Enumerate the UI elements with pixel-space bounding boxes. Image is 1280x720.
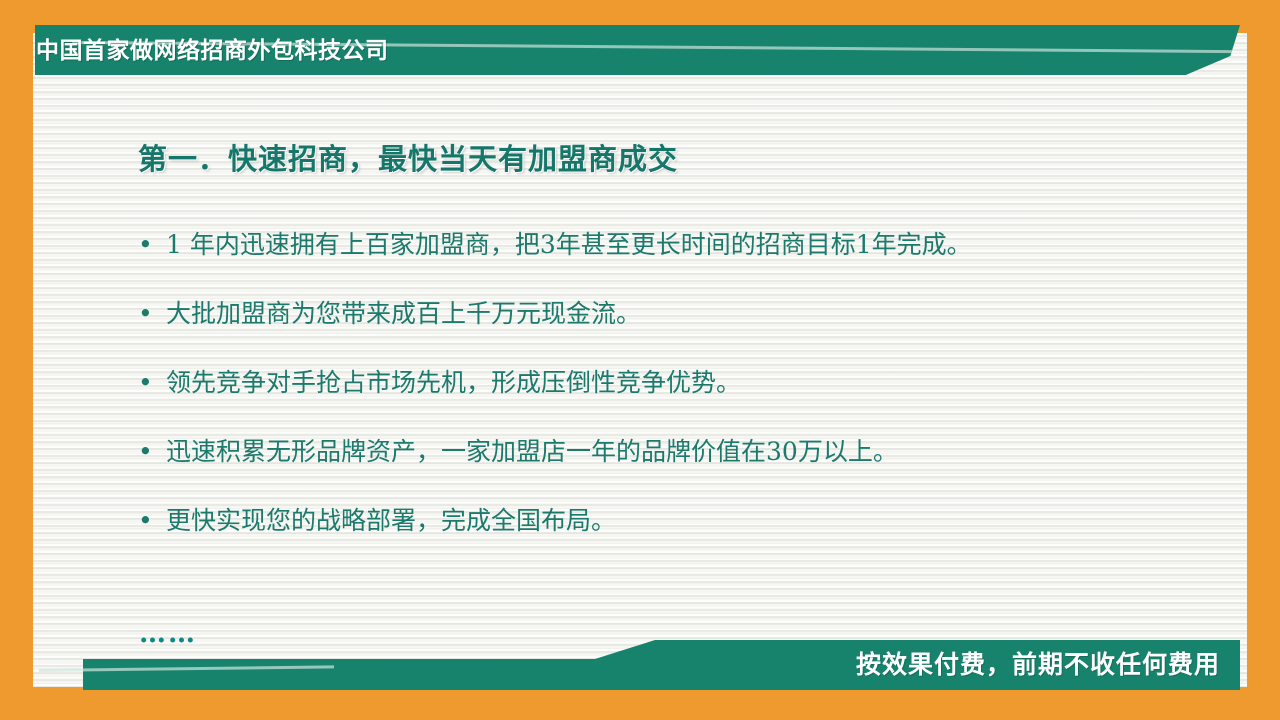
list-item: • 更快实现您的战略部署，完成全国布局。 (138, 504, 1228, 538)
bullet-marker-icon: • (138, 228, 166, 262)
list-item-text: 迅速积累无形品牌资产，一家加盟店一年的品牌价值在30万以上。 (166, 435, 1228, 469)
bullet-marker-icon: • (138, 435, 166, 469)
list-item-text: 更快实现您的战略部署，完成全国布局。 (166, 504, 1228, 538)
slide-canvas: 中国首家做网络招商外包科技公司 第一．快速招商，最快当天有加盟商成交 • 1 年… (0, 0, 1280, 720)
page-title: 中国首家做网络招商外包科技公司 (36, 30, 389, 70)
bullet-marker-icon: • (138, 297, 166, 331)
bullet-marker-icon: • (138, 504, 166, 538)
list-item: • 1 年内迅速拥有上百家加盟商，把3年甚至更长时间的招商目标1年完成。 (138, 228, 1228, 262)
list-item-text: 大批加盟商为您带来成百上千万元现金流。 (166, 297, 1228, 331)
footer-tagline: 按效果付费，前期不收任何费用 (856, 648, 1220, 682)
list-item-text: 1 年内迅速拥有上百家加盟商，把3年甚至更长时间的招商目标1年完成。 (166, 228, 1228, 262)
list-item: • 迅速积累无形品牌资产，一家加盟店一年的品牌价值在30万以上。 (138, 435, 1228, 469)
list-item: • 领先竞争对手抢占市场先机，形成压倒性竞争优势。 (138, 366, 1228, 400)
list-item-text: 领先竞争对手抢占市场先机，形成压倒性竞争优势。 (166, 366, 1228, 400)
bullet-list: • 1 年内迅速拥有上百家加盟商，把3年甚至更长时间的招商目标1年完成。 • 大… (138, 228, 1228, 573)
main-content: 第一．快速招商，最快当天有加盟商成交 • 1 年内迅速拥有上百家加盟商，把3年甚… (33, 33, 1247, 687)
section-heading: 第一．快速招商，最快当天有加盟商成交 (138, 136, 678, 178)
list-item: • 大批加盟商为您带来成百上千万元现金流。 (138, 297, 1228, 331)
bullet-marker-icon: • (138, 366, 166, 400)
